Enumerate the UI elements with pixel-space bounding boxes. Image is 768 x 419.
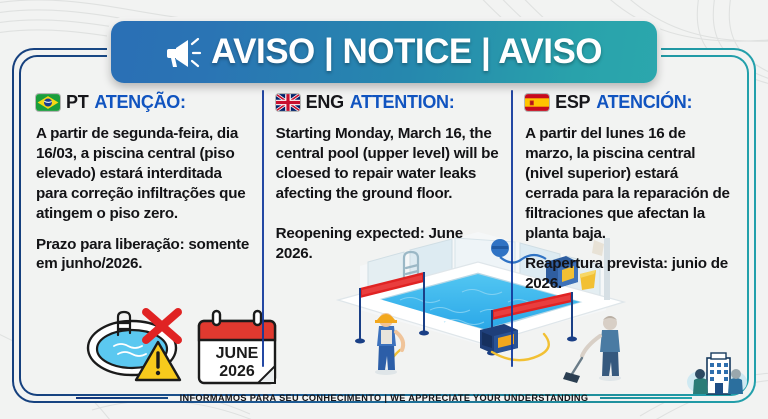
column-esp-heading: ATENCIÓN: [596, 92, 692, 113]
spain-flag-icon [525, 94, 549, 111]
banner-title: AVISO | NOTICE | AVISO [211, 32, 602, 72]
column-eng-header: ENG ATTENTION: [276, 92, 499, 113]
column-eng: ENG ATTENTION: Starting Monday, March 16… [264, 86, 511, 379]
uk-flag-icon [276, 94, 300, 111]
column-esp-paragraph-1: A partir del lunes 16 de marzo, la pisci… [525, 124, 732, 243]
column-pt-header: PT ATENÇÃO: [36, 92, 250, 113]
column-esp: ESP ATENCIÓN: A partir del lunes 16 de m… [513, 86, 744, 379]
footer-text: INFORMAMOS PARA SEU CONHECIMENTO | WE AP… [180, 393, 589, 403]
column-pt-paragraph-2: Prazo para liberação: somente em junho/2… [36, 235, 250, 275]
column-eng-paragraph-2: Reopening expected: June 2026. [276, 224, 499, 264]
column-eng-paragraph-1: Starting Monday, March 16, the central p… [276, 124, 499, 204]
column-eng-heading: ATTENTION: [350, 92, 455, 113]
column-eng-code: ENG [306, 92, 344, 113]
brazil-flag-icon [36, 94, 60, 111]
column-esp-header: ESP ATENCIÓN: [525, 92, 732, 113]
column-pt-code: PT [66, 92, 88, 113]
column-pt-heading: ATENÇÃO: [94, 92, 185, 113]
footer-rule-right [600, 397, 692, 399]
column-pt-paragraph-1: A partir de segunda-feira, dia 16/03, a … [36, 124, 250, 224]
column-esp-paragraph-2: Reapertura prevista: junio de 2026. [525, 254, 732, 294]
megaphone-icon [166, 36, 202, 69]
footer-rule-left [76, 397, 168, 399]
footer: INFORMAMOS PARA SEU CONHECIMENTO | WE AP… [0, 388, 768, 408]
column-esp-code: ESP [555, 92, 590, 113]
notice-columns: PT ATENÇÃO: A partir de segunda-feira, d… [24, 86, 744, 379]
notice-banner: AVISO | NOTICE | AVISO [111, 21, 657, 83]
column-pt: PT ATENÇÃO: A partir de segunda-feira, d… [24, 86, 262, 379]
